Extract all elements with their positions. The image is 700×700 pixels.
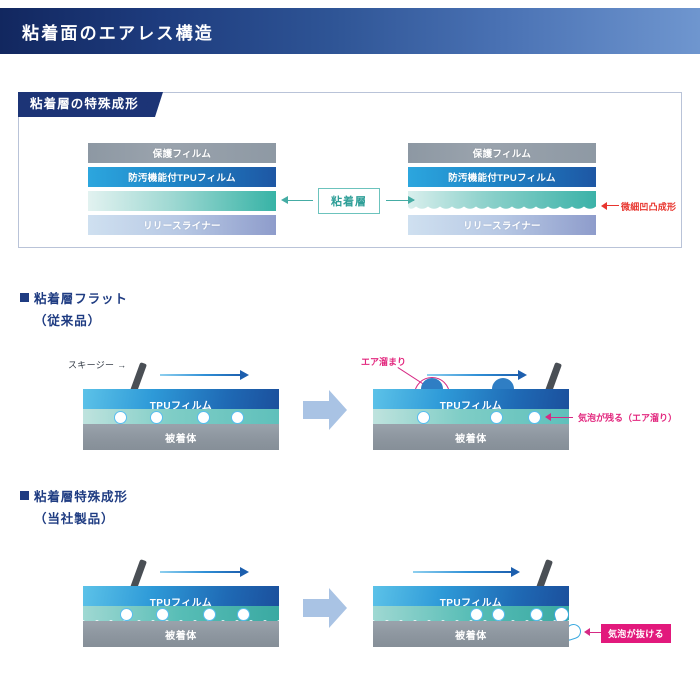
direction-arrow-head-icon <box>511 567 520 577</box>
bullet-square-icon <box>20 293 29 302</box>
layer-adhesive-flat <box>88 191 276 211</box>
air-bulge <box>492 378 514 389</box>
trapped-bubble <box>490 411 503 424</box>
trapped-bubble <box>150 411 163 424</box>
adhesive-wave-shape <box>408 191 596 211</box>
layer-tpu-film: 防汚機能付TPUフィルム <box>408 167 596 187</box>
layer-stack-textured: 保護フィルム 防汚機能付TPUフィルム リリースライナー <box>408 143 596 239</box>
bubbles-remain-annotation: 気泡が残る（エア溜り） <box>578 411 677 424</box>
substrate-band: 被着体 <box>373 424 569 450</box>
section2-subheading: （当社製品） <box>34 508 114 527</box>
section1-subheading: （従来品） <box>34 310 101 329</box>
escaping-bubble <box>120 608 133 621</box>
trapped-bubble <box>114 411 127 424</box>
escaping-bubble <box>237 608 250 621</box>
box-tab-label: 粘着層の特殊成形 <box>18 92 161 117</box>
squeegee-label: スキージー → <box>68 358 126 371</box>
trapped-bubble <box>197 411 210 424</box>
trapped-bubble <box>417 411 430 424</box>
substrate-band: 被着体 <box>83 424 279 450</box>
direction-arrow-line <box>427 374 520 376</box>
layer-stack-flat: 保護フィルム 防汚機能付TPUフィルム リリースライナー <box>88 143 276 239</box>
escaping-bubble <box>470 608 483 621</box>
layer-protective-film: 保護フィルム <box>88 143 276 163</box>
direction-arrow-line <box>160 571 242 573</box>
air-pocket-annotation: エア溜まり <box>361 355 406 368</box>
micro-texture-leader-line <box>605 205 619 206</box>
bubbles-escape-annotation: 気泡が抜ける <box>601 624 671 643</box>
process-arrow-icon <box>303 588 347 628</box>
callout-arrow-left-icon <box>281 196 288 204</box>
direction-arrow-line <box>160 374 242 376</box>
escaping-bubble <box>203 608 216 621</box>
page-header-banner: 粘着面のエアレス構造 <box>0 8 700 54</box>
layer-release-liner: リリースライナー <box>408 215 596 235</box>
direction-arrow-head-icon <box>240 370 249 380</box>
trapped-bubble <box>528 411 541 424</box>
layer-protective-film: 保護フィルム <box>408 143 596 163</box>
bullet-square-icon <box>20 491 29 500</box>
adhesive-layer-callout: 粘着層 <box>318 188 380 214</box>
diagram-page: 粘着面のエアレス構造 粘着層の特殊成形 保護フィルム 防汚機能付TPUフィルム … <box>0 0 700 700</box>
direction-arrow-head-icon <box>240 567 249 577</box>
escaping-bubble <box>492 608 505 621</box>
direction-arrow-head-icon <box>518 370 527 380</box>
page-title: 粘着面のエアレス構造 <box>22 19 214 44</box>
section2-heading: 粘着層特殊成形 <box>20 486 128 505</box>
section1-heading: 粘着層フラット <box>20 288 128 307</box>
layer-tpu-film: 防汚機能付TPUフィルム <box>88 167 276 187</box>
substrate-band: 被着体 <box>83 621 279 647</box>
trapped-bubble <box>231 411 244 424</box>
micro-texture-arrow-icon <box>601 202 607 210</box>
layer-adhesive-textured <box>408 191 596 211</box>
substrate-band: 被着体 <box>373 621 569 647</box>
layer-release-liner: リリースライナー <box>88 215 276 235</box>
escaping-bubble <box>530 608 543 621</box>
escaping-bubble <box>156 608 169 621</box>
direction-arrow-line <box>413 571 513 573</box>
bubbles-remain-leader-line <box>551 417 573 418</box>
callout-arrow-right-icon <box>408 196 415 204</box>
process-arrow-icon <box>303 390 347 430</box>
micro-texture-annotation: 微細凹凸成形 <box>621 200 676 213</box>
